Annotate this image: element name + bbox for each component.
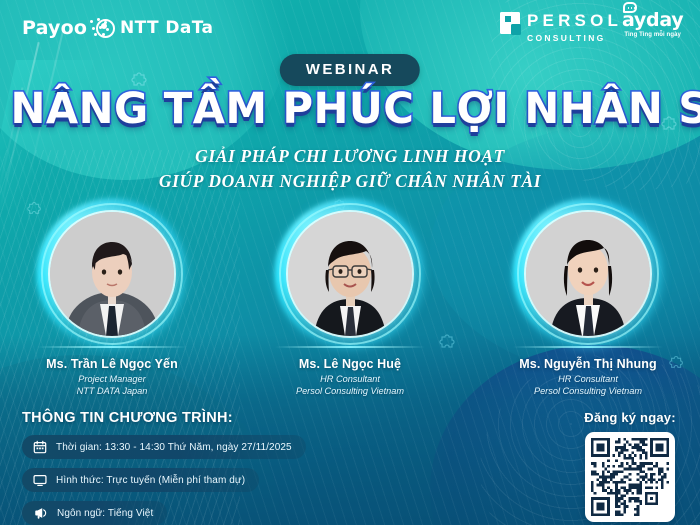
speaker-role: HR Consultant bbox=[488, 373, 688, 385]
speaker-photo-frame bbox=[526, 212, 650, 336]
speaker-role: HR Consultant bbox=[250, 373, 450, 385]
register-label: Đăng ký ngay: bbox=[574, 410, 686, 425]
megaphone-icon bbox=[33, 506, 48, 520]
avatar bbox=[288, 212, 412, 336]
speaker-card: Ms. Lê Ngọc Huệ HR Consultant Persol Con… bbox=[250, 212, 450, 398]
qr-code[interactable] bbox=[585, 432, 675, 522]
speaker-photo-frame bbox=[50, 212, 174, 336]
monitor-icon bbox=[33, 473, 47, 487]
webinar-banner: Payoo NTT DaTa PERSOL CONSULTING bbox=[0, 0, 700, 525]
ntt-wordmark: NTT DaTa bbox=[120, 18, 213, 38]
program-info-section: THÔNG TIN CHƯƠNG TRÌNH: Thời gian: 13:30… bbox=[22, 410, 332, 525]
webinar-badge: WEBINAR bbox=[280, 54, 420, 86]
logo-persol-consulting: PERSOL CONSULTING bbox=[500, 12, 622, 43]
subtitle-line-1: GIẢI PHÁP CHI LƯƠNG LINH HOẠT bbox=[0, 144, 700, 169]
program-item-label: Ngôn ngữ: Tiếng Việt bbox=[57, 508, 153, 519]
speaker-card: Ms. Trần Lê Ngọc Yến Project Manager NTT… bbox=[12, 212, 212, 398]
page-subtitle: GIẢI PHÁP CHI LƯƠNG LINH HOẠT GIÚP DOANH… bbox=[0, 144, 700, 194]
avatar bbox=[526, 212, 650, 336]
speaker-org: NTT DATA Japan bbox=[12, 385, 212, 397]
speaker-photo-frame bbox=[288, 212, 412, 336]
program-item-language: Ngôn ngữ: Tiếng Việt bbox=[22, 501, 167, 525]
program-info-title: THÔNG TIN CHƯƠNG TRÌNH: bbox=[22, 410, 332, 426]
qr-code-image bbox=[591, 438, 669, 516]
speaker-card: Ms. Nguyễn Thị Nhung HR Consultant Perso… bbox=[488, 212, 688, 398]
page-title: NÂNG TẦM PHÚC LỢI NHÂN SỰ bbox=[11, 84, 690, 134]
payday-bubble-icon bbox=[623, 2, 637, 13]
speaker-org: Persol Consulting Vietnam bbox=[488, 385, 688, 397]
speakers-section: Ms. Trần Lê Ngọc Yến Project Manager NTT… bbox=[0, 212, 700, 402]
logo-payday: ayday Ting Ting mỗi ngày bbox=[622, 9, 683, 38]
program-item-time: Thời gian: 13:30 - 14:30 Thứ Năm, ngày 2… bbox=[22, 435, 306, 459]
ntt-circle-icon bbox=[96, 19, 115, 38]
subtitle-line-2: GIÚP DOANH NGHIỆP GIỮ CHÂN NHÂN TÀI bbox=[0, 169, 700, 194]
payday-tagline: Ting Ting mỗi ngày bbox=[622, 32, 683, 38]
program-item-label: Thời gian: 13:30 - 14:30 Thứ Năm, ngày 2… bbox=[56, 442, 292, 453]
speaker-name: Ms. Nguyễn Thị Nhung bbox=[488, 357, 688, 371]
program-item-format: Hình thức: Trực tuyến (Miễn phí tham dự) bbox=[22, 468, 259, 492]
avatar bbox=[50, 212, 174, 336]
header-logos: Payoo NTT DaTa PERSOL CONSULTING bbox=[0, 0, 700, 58]
payoo-wordmark: Payoo bbox=[22, 17, 87, 39]
speaker-org: Persol Consulting Vietnam bbox=[250, 385, 450, 397]
persol-subtitle: CONSULTING bbox=[527, 33, 622, 43]
persol-wordmark: PERSOL bbox=[527, 12, 622, 29]
program-item-label: Hình thức: Trực tuyến (Miễn phí tham dự) bbox=[56, 475, 245, 486]
speaker-name: Ms. Trần Lê Ngọc Yến bbox=[12, 357, 212, 371]
logo-ntt-data: NTT DaTa bbox=[96, 18, 213, 38]
speaker-role: Project Manager bbox=[12, 373, 212, 385]
calendar-icon bbox=[33, 440, 47, 454]
speaker-name: Ms. Lê Ngọc Huệ bbox=[250, 357, 450, 371]
persol-mark-icon bbox=[500, 12, 520, 34]
payday-wordmark: ayday bbox=[622, 9, 683, 31]
register-section: Đăng ký ngay: bbox=[574, 410, 686, 522]
